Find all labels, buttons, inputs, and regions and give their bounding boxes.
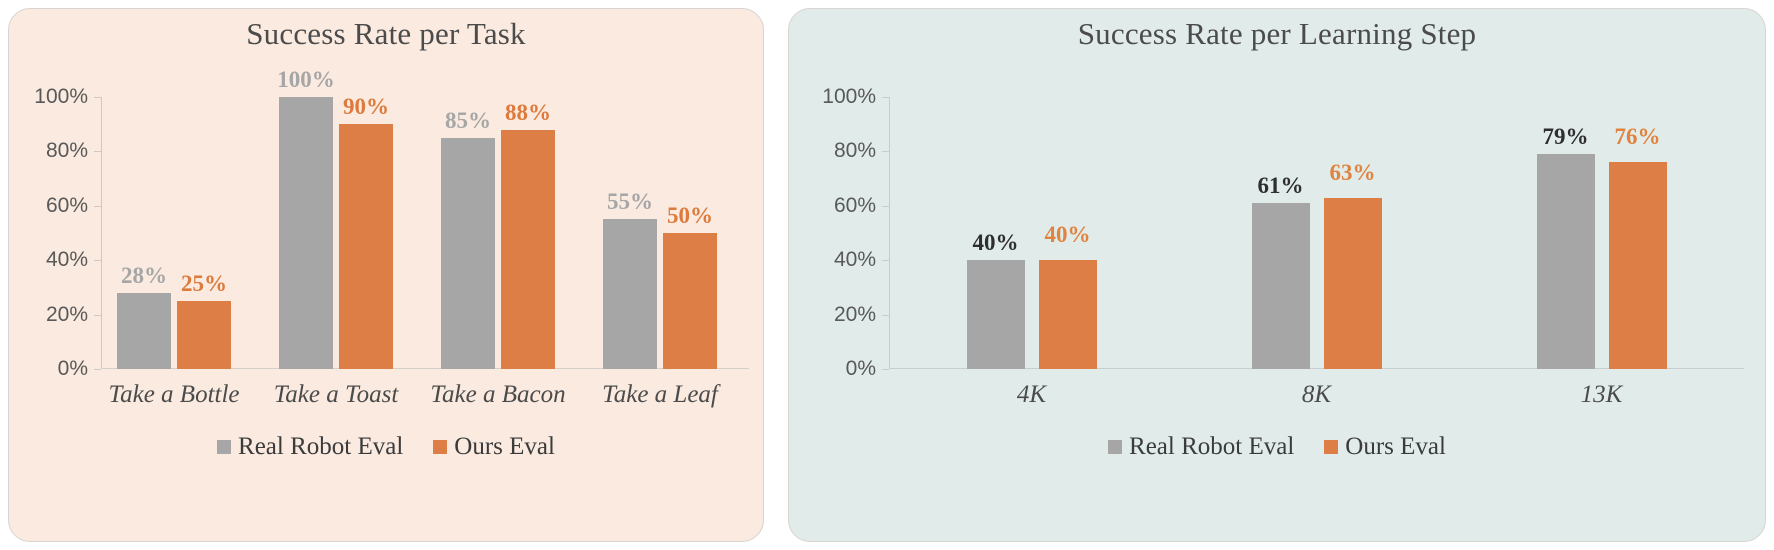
y-tick-mark xyxy=(882,151,889,152)
legend-item[interactable]: Real Robot Eval xyxy=(217,433,403,461)
plot-area-left: 0%20%40%60%80%100% 28%25%100%90%85%88%55… xyxy=(101,97,749,369)
y-tick-label: 60% xyxy=(834,194,876,218)
bar-ours-eval xyxy=(1039,260,1097,369)
y-tick-mark xyxy=(882,369,889,370)
x-axis-categories-left: Take a BottleTake a ToastTake a BaconTak… xyxy=(101,381,749,415)
y-tick-label: 0% xyxy=(58,357,88,381)
legend-label: Ours Eval xyxy=(454,433,555,461)
y-tick-mark xyxy=(94,206,101,207)
y-tick-mark xyxy=(94,315,101,316)
legend-item[interactable]: Ours Eval xyxy=(433,433,555,461)
y-tick-label: 80% xyxy=(834,139,876,163)
bar-ours-eval xyxy=(339,124,393,369)
y-tick-mark xyxy=(882,260,889,261)
x-axis-category-label: 4K xyxy=(1017,381,1046,409)
bar-value-label: 100% xyxy=(277,68,335,91)
bar-value-label: 40% xyxy=(973,231,1019,254)
bar-value-label: 63% xyxy=(1330,161,1376,184)
y-tick-mark xyxy=(94,97,101,98)
bar-value-label: 90% xyxy=(343,95,389,118)
bar-ours-eval xyxy=(177,301,231,369)
chart-panel-success-rate-per-task: Success Rate per Task 0%20%40%60%80%100%… xyxy=(8,8,764,542)
bar-real-robot-eval xyxy=(1537,154,1595,369)
x-axis-category-label: Take a Leaf xyxy=(602,381,718,409)
y-tick-label: 40% xyxy=(46,248,88,272)
bars-group-right: 40%40%61%63%79%76% xyxy=(889,97,1744,369)
x-axis-category-label: Take a Bacon xyxy=(430,381,565,409)
bar-ours-eval xyxy=(1324,198,1382,369)
bar-real-robot-eval xyxy=(603,219,657,369)
legend-label: Ours Eval xyxy=(1345,433,1446,461)
legend-item[interactable]: Ours Eval xyxy=(1324,433,1446,461)
legend-swatch-icon xyxy=(217,440,231,454)
bars-group-left: 28%25%100%90%85%88%55%50% xyxy=(101,97,749,369)
legend-right: Real Robot EvalOurs Eval xyxy=(789,433,1765,461)
bar-real-robot-eval xyxy=(117,293,171,369)
legend-left: Real Robot EvalOurs Eval xyxy=(9,433,763,461)
chart-title-left: Success Rate per Task xyxy=(9,15,763,54)
bar-ours-eval xyxy=(663,233,717,369)
bar-value-label: 61% xyxy=(1258,174,1304,197)
x-axis-category-label: Take a Toast xyxy=(274,381,399,409)
bar-real-robot-eval xyxy=(279,97,333,369)
y-tick-mark xyxy=(94,151,101,152)
x-axis-category-label: 8K xyxy=(1302,381,1331,409)
y-tick-label: 20% xyxy=(46,303,88,327)
x-axis-category-label: Take a Bottle xyxy=(108,381,239,409)
x-axis-category-label: 13K xyxy=(1581,381,1623,409)
y-tick-mark xyxy=(882,206,889,207)
y-tick-label: 80% xyxy=(46,139,88,163)
legend-item[interactable]: Real Robot Eval xyxy=(1108,433,1294,461)
legend-swatch-icon xyxy=(433,440,447,454)
chart-title-right: Success Rate per Learning Step xyxy=(789,15,1765,54)
legend-label: Real Robot Eval xyxy=(238,433,403,461)
legend-swatch-icon xyxy=(1108,440,1122,454)
y-tick-mark xyxy=(94,260,101,261)
bar-real-robot-eval xyxy=(1252,203,1310,369)
bar-ours-eval xyxy=(501,130,555,369)
bar-value-label: 28% xyxy=(121,264,167,287)
y-tick-label: 20% xyxy=(834,303,876,327)
bar-value-label: 79% xyxy=(1543,125,1589,148)
bar-value-label: 25% xyxy=(181,272,227,295)
bar-value-label: 55% xyxy=(607,190,653,213)
y-tick-mark xyxy=(882,315,889,316)
y-tick-label: 100% xyxy=(822,85,876,109)
y-tick-label: 60% xyxy=(46,194,88,218)
bar-real-robot-eval xyxy=(967,260,1025,369)
chart-panel-success-rate-per-learning-step: Success Rate per Learning Step 0%20%40%6… xyxy=(788,8,1766,542)
bar-value-label: 50% xyxy=(667,204,713,227)
bar-value-label: 88% xyxy=(505,101,551,124)
bar-ours-eval xyxy=(1609,162,1667,369)
y-tick-mark xyxy=(882,97,889,98)
bar-value-label: 76% xyxy=(1615,125,1661,148)
y-tick-label: 0% xyxy=(846,357,876,381)
figure-container: Success Rate per Task 0%20%40%60%80%100%… xyxy=(0,0,1774,550)
y-tick-label: 100% xyxy=(34,85,88,109)
y-tick-mark xyxy=(94,369,101,370)
bar-value-label: 40% xyxy=(1045,223,1091,246)
x-axis-categories-right: 4K8K13K xyxy=(889,381,1744,415)
plot-area-right: 0%20%40%60%80%100% 40%40%61%63%79%76% xyxy=(889,97,1744,369)
bar-value-label: 85% xyxy=(445,109,491,132)
legend-label: Real Robot Eval xyxy=(1129,433,1294,461)
y-tick-label: 40% xyxy=(834,248,876,272)
legend-swatch-icon xyxy=(1324,440,1338,454)
bar-real-robot-eval xyxy=(441,138,495,369)
